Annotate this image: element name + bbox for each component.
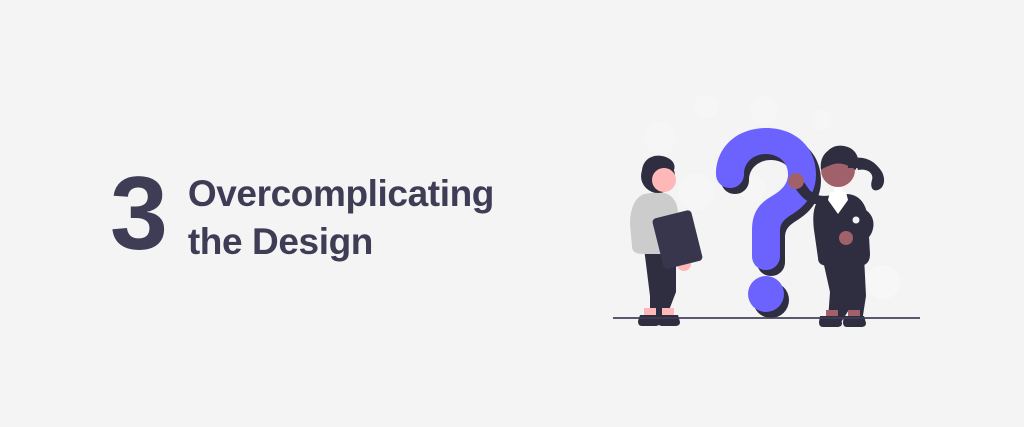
page-title: Overcomplicating the Design [188, 170, 494, 266]
question-mark-icon [716, 128, 821, 318]
slide-number: 3 [110, 162, 166, 266]
woman-suit-button [853, 217, 860, 224]
man-face [652, 168, 676, 192]
woman-hand-pointing [788, 173, 804, 189]
man-shoe-back [638, 315, 660, 326]
man-shoe-front [658, 315, 680, 326]
woman-ponytail [854, 158, 884, 191]
illustration-two-people-question-mark [600, 96, 940, 336]
slide-text-block: 3 Overcomplicating the Design [110, 158, 494, 266]
page-title-line-1: Overcomplicating [188, 170, 494, 218]
page-title-line-2: the Design [188, 218, 494, 266]
question-mark-dot [748, 276, 784, 312]
slide-canvas: 3 Overcomplicating the Design [0, 0, 1024, 427]
woman-hand-on-hip [839, 231, 853, 245]
